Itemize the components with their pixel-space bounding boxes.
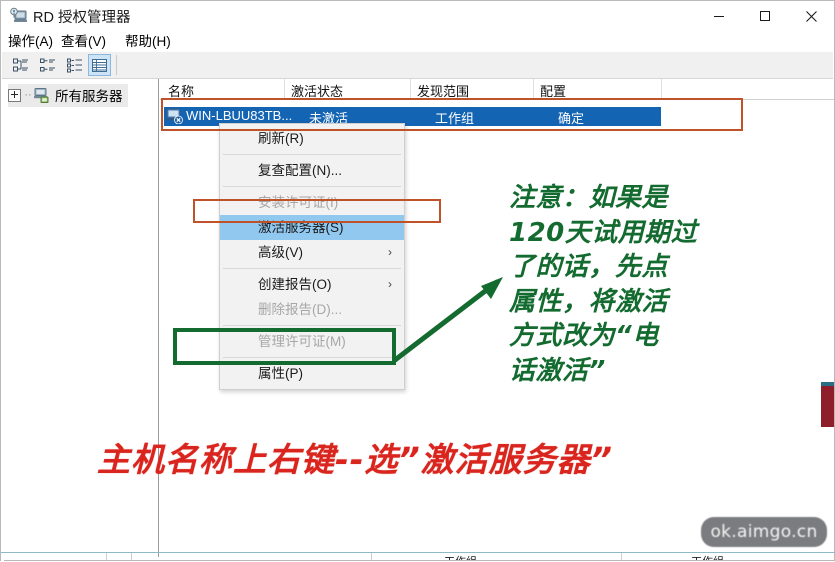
background-column-divider [621, 553, 622, 560]
column-header-status[interactable]: 激活状态 [291, 81, 343, 100]
menu-create-report-label: 创建报告(O) [258, 277, 332, 292]
server-not-activated-icon [166, 108, 184, 124]
column-divider[interactable] [410, 79, 411, 99]
menu-activate-server[interactable]: 激活服务器(S) [220, 215, 404, 240]
column-divider[interactable] [533, 79, 534, 99]
annotation-note-green: 注意：如果是 120天试用期过 了的话，先点 属性，将激活 方式改为“电 话激活… [509, 181, 749, 388]
list-view-icon [92, 59, 107, 72]
cell-scope: 工作组 [435, 108, 474, 127]
properties-button[interactable] [37, 54, 60, 76]
rd-licensing-icon [10, 7, 27, 24]
menu-properties[interactable]: 属性(P) [220, 361, 404, 386]
menu-manage-licenses: 管理许可证(M) [220, 329, 404, 354]
background-column-divider [131, 553, 132, 560]
menu-view[interactable]: 查看(V) [61, 30, 106, 50]
watermark-text: ok.aimgo.cn [710, 522, 817, 542]
toolbar [2, 52, 833, 79]
window-title: RD 授权管理器 [33, 6, 130, 27]
menu-separator [223, 357, 401, 358]
list-column-header: 名称 激活状态 发现范围 配置 [160, 79, 834, 100]
column-divider[interactable] [284, 79, 285, 99]
menu-create-report[interactable]: 创建报告(O) › [220, 272, 404, 297]
show-hide-console-tree-icon [13, 58, 30, 73]
tree-item-label: 所有服务器 [55, 85, 123, 105]
chevron-right-icon: › [388, 240, 392, 265]
chevron-right-icon: › [388, 272, 392, 297]
close-button[interactable] [788, 1, 834, 31]
close-icon [805, 10, 818, 23]
menu-delete-report: 删除报告(D)... [220, 297, 404, 322]
menu-separator [223, 186, 401, 187]
refresh-button[interactable] [64, 54, 87, 76]
list-view-button[interactable] [88, 54, 111, 76]
console-tree-pane: ·· 所有服务器 [2, 79, 159, 557]
cell-config: 确定 [558, 108, 584, 127]
minimize-icon [713, 10, 725, 22]
title-bar: RD 授权管理器 [1, 1, 834, 31]
toolbar-separator [116, 55, 117, 75]
background-column-divider [106, 553, 107, 560]
background-window-strip: 工作组 工作组 [1, 549, 835, 560]
menu-advanced[interactable]: 高级(V) › [220, 240, 404, 265]
watermark: ok.aimgo.cn [701, 517, 827, 547]
menu-bar: 操作(A) 查看(V) 帮助(H) [1, 28, 834, 51]
tree-connector: ·· [23, 90, 33, 101]
menu-separator [223, 154, 401, 155]
menu-advanced-label: 高级(V) [258, 245, 303, 260]
menu-install-licenses: 安装许可证(I) [220, 190, 404, 215]
menu-refresh[interactable]: 刷新(R) [220, 126, 404, 151]
maximize-button[interactable] [742, 1, 788, 31]
menu-help[interactable]: 帮助(H) [125, 30, 171, 50]
column-header-config[interactable]: 配置 [540, 81, 566, 100]
column-header-scope[interactable]: 发现范围 [417, 81, 469, 100]
menu-separator [223, 268, 401, 269]
tree-item-all-servers[interactable]: ·· 所有服务器 [8, 84, 128, 107]
column-divider[interactable] [661, 79, 662, 99]
background-column-divider [371, 553, 372, 560]
rd-licensing-manager-window: RD 授权管理器 操作(A) 查看(V) 帮助(H) [0, 0, 835, 561]
cell-name: WIN-LBUU83TB... [186, 108, 292, 123]
menu-separator [223, 325, 401, 326]
background-cell: 工作组 [444, 553, 477, 560]
column-header-name[interactable]: 名称 [168, 81, 194, 100]
minimize-button[interactable] [696, 1, 742, 31]
refresh-icon [67, 58, 84, 73]
menu-review-config[interactable]: 复查配置(N)... [220, 158, 404, 183]
context-menu: 刷新(R) 复查配置(N)... 安装许可证(I) 激活服务器(S) 高级(V)… [219, 123, 405, 390]
show-hide-console-tree-button[interactable] [10, 54, 33, 76]
expand-plus-icon[interactable] [8, 89, 21, 102]
all-servers-icon [33, 87, 51, 103]
properties-icon [40, 58, 57, 73]
menu-action[interactable]: 操作(A) [8, 30, 53, 50]
annotation-note-red: 主机名称上右键--选”激活服务器” [97, 433, 613, 481]
background-window-edge-red [821, 386, 834, 427]
background-cell: 工作组 [691, 553, 724, 560]
maximize-icon [759, 10, 771, 22]
